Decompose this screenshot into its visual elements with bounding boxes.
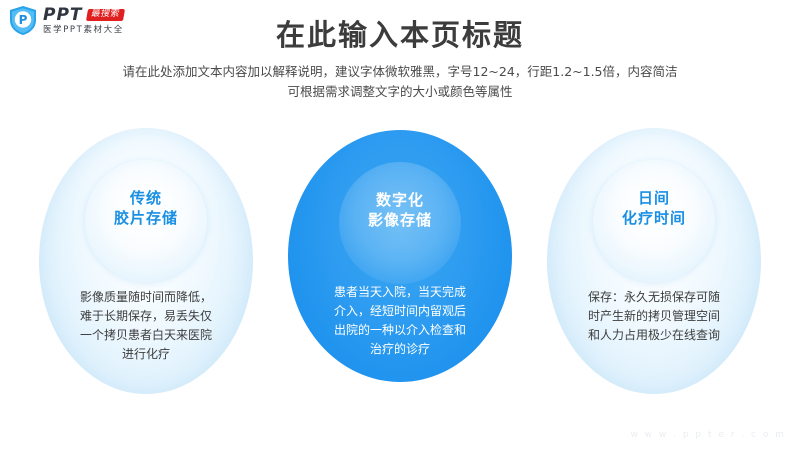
page-title: 在此输入本页标题 [0, 12, 800, 54]
subtitle-line-1: 请在此处添加文本内容加以解释说明，建议字体微软雅黑，字号12~24，行距1.2~… [0, 62, 800, 82]
body-line-3: 一个拷贝患者白天来医院 [23, 326, 269, 345]
heading-line-2: 胶片存储 [23, 208, 269, 228]
column-traditional-film-storage[interactable]: 传统 胶片存储 影像质量随时间而降低， 难于长期保存，易丢失仅 一个拷贝患者白天… [23, 128, 269, 404]
heading-line-1: 传统 [23, 188, 269, 208]
page-subtitle: 请在此处添加文本内容加以解释说明，建议字体微软雅黑，字号12~24，行距1.2~… [0, 62, 800, 102]
body-line-1: 影像质量随时间而降低， [23, 288, 269, 307]
column-heading-right: 日间 化疗时间 [531, 188, 777, 228]
column-heading-center: 数字化 影像存储 [275, 190, 525, 230]
body-line-2: 难于长期保存，易丢失仅 [23, 307, 269, 326]
body-line-1: 患者当天入院，当天完成 [275, 283, 525, 302]
heading-line-2: 影像存储 [275, 210, 525, 230]
body-line-3: 出院的一种以介入检查和 [275, 321, 525, 340]
column-heading-left: 传统 胶片存储 [23, 188, 269, 228]
site-watermark: w w w . p p t e r . c o m [630, 430, 786, 440]
slide-canvas: P PPT 最搜索 医学PPT素材大全 在此输入本页标题 请在此处添加文本内容加… [0, 0, 800, 450]
column-daytime-chemotherapy[interactable]: 日间 化疗时间 保存：永久无损保存可随 时产生新的拷贝管理空间 和人力占用极少在… [531, 128, 777, 404]
content-columns: 传统 胶片存储 影像质量随时间而降低， 难于长期保存，易丢失仅 一个拷贝患者白天… [0, 128, 800, 418]
body-line-1: 保存：永久无损保存可随 [531, 288, 777, 307]
body-line-2: 介入，经短时间内留观后 [275, 302, 525, 321]
heading-line-1: 日间 [531, 188, 777, 208]
body-line-3: 和人力占用极少在线查询 [531, 326, 777, 345]
subtitle-line-2: 可根据需求调整文字的大小或颜色等属性 [0, 82, 800, 102]
column-body-right: 保存：永久无损保存可随 时产生新的拷贝管理空间 和人力占用极少在线查询 [531, 288, 777, 345]
body-line-4: 治疗的诊疗 [275, 340, 525, 359]
column-body-center: 患者当天入院，当天完成 介入，经短时间内留观后 出院的一种以介入检查和 治疗的诊… [275, 283, 525, 359]
body-line-4: 进行化疗 [23, 345, 269, 364]
column-digital-image-storage[interactable]: 数字化 影像存储 患者当天入院，当天完成 介入，经短时间内留观后 出院的一种以介… [275, 118, 525, 408]
column-body-left: 影像质量随时间而降低， 难于长期保存，易丢失仅 一个拷贝患者白天来医院 进行化疗 [23, 288, 269, 364]
heading-line-2: 化疗时间 [531, 208, 777, 228]
body-line-2: 时产生新的拷贝管理空间 [531, 307, 777, 326]
heading-line-1: 数字化 [275, 190, 525, 210]
